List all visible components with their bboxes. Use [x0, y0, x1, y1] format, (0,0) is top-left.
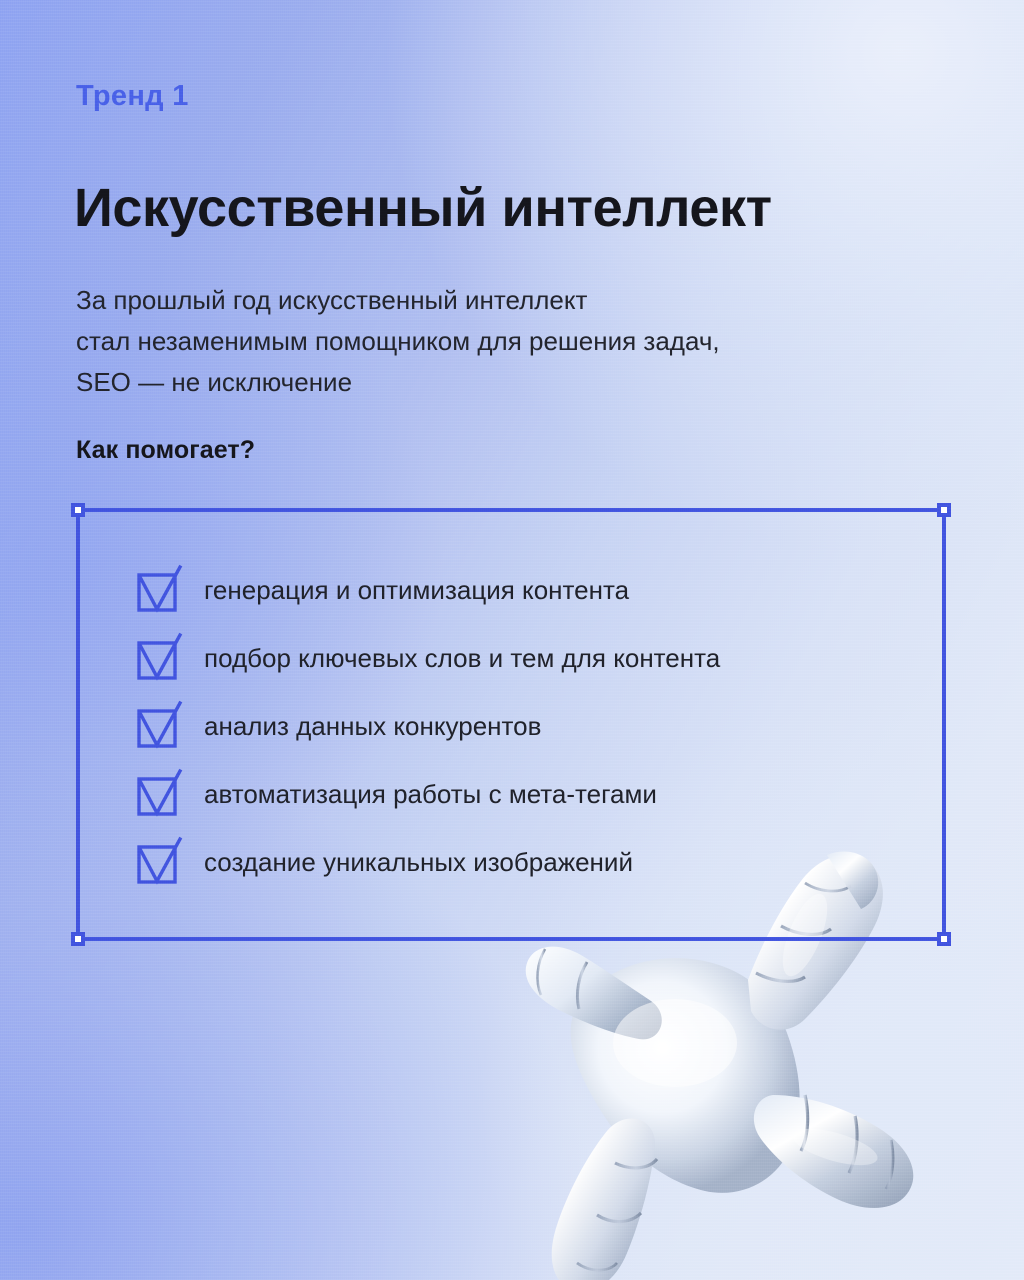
benefits-checklist: генерация и оптимизация контента подбор …	[136, 556, 720, 896]
list-item[interactable]: анализ данных конкурентов	[136, 692, 720, 760]
list-item-label: генерация и оптимизация контента	[204, 577, 629, 603]
slide-content: Тренд 1 Искусственный интеллект За прошл…	[0, 0, 1024, 1280]
checked-checkbox-icon[interactable]	[136, 771, 182, 817]
list-item[interactable]: подбор ключевых слов и тем для контента	[136, 624, 720, 692]
slide-canvas: Тренд 1 Искусственный интеллект За прошл…	[0, 0, 1024, 1280]
list-item-label: подбор ключевых слов и тем для контента	[204, 645, 720, 671]
list-item[interactable]: автоматизация работы с мета-тегами	[136, 760, 720, 828]
trend-eyebrow: Тренд 1	[76, 79, 189, 114]
page-title: Искусственный интеллект	[74, 178, 772, 238]
list-item-label: автоматизация работы с мета-тегами	[204, 781, 657, 807]
checked-checkbox-icon[interactable]	[136, 839, 182, 885]
checked-checkbox-icon[interactable]	[136, 703, 182, 749]
list-item[interactable]: генерация и оптимизация контента	[136, 556, 720, 624]
checked-checkbox-icon[interactable]	[136, 567, 182, 613]
section-subheading: Как помогает?	[76, 436, 255, 465]
list-item-label: анализ данных конкурентов	[204, 713, 541, 739]
checked-checkbox-icon[interactable]	[136, 635, 182, 681]
list-item-label: создание уникальных изображений	[204, 849, 633, 875]
list-item[interactable]: создание уникальных изображений	[136, 828, 720, 896]
intro-paragraph: За прошлый год искусственный интеллект с…	[76, 280, 720, 403]
